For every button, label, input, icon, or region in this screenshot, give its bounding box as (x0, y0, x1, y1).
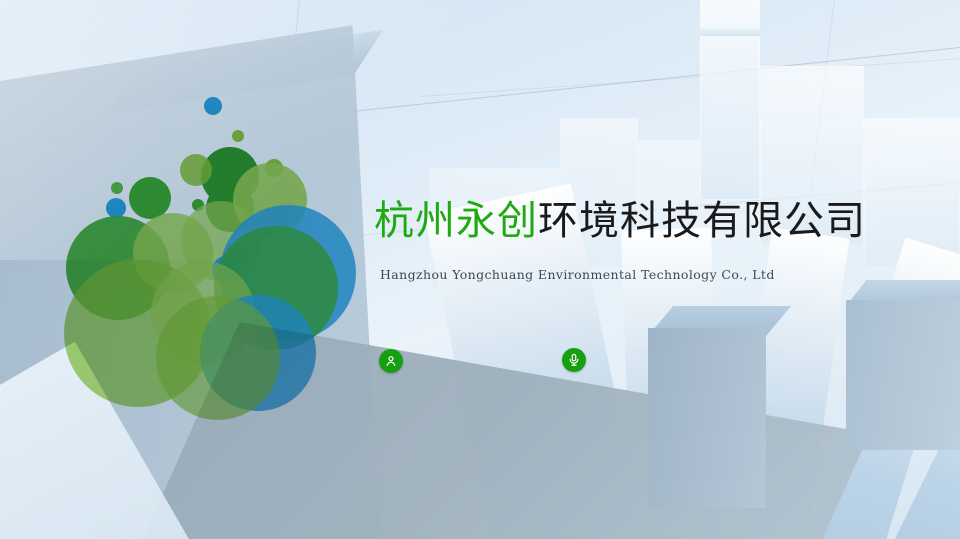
logo-circle (180, 154, 212, 186)
company-logo (78, 88, 348, 408)
title-slide: 杭州永创环境科技有限公司 Hangzhou Yongchuang Environ… (0, 0, 960, 539)
subtitle: Hangzhou Yongchuang Environmental Techno… (380, 267, 914, 282)
user-icon-button[interactable] (379, 349, 403, 373)
title-remainder-part: 环境科技有限公司 (538, 198, 866, 244)
title-text-block: 杭州永创环境科技有限公司 Hangzhou Yongchuang Environ… (374, 198, 914, 282)
logo-circle (232, 130, 244, 142)
page-title: 杭州永创环境科技有限公司 (374, 198, 914, 245)
microphone-icon-button[interactable] (562, 348, 586, 372)
block-front-face (648, 328, 766, 508)
block-front-face (846, 300, 960, 450)
title-brand-part: 杭州永创 (374, 198, 538, 244)
logo-circle (106, 198, 126, 218)
logo-circle (111, 182, 123, 194)
background-block (846, 300, 960, 450)
user-icon (384, 354, 398, 368)
logo-circle (156, 296, 280, 420)
logo-circle (204, 97, 222, 115)
background-block (648, 328, 766, 508)
guide-line (420, 57, 960, 97)
microphone-icon (567, 353, 581, 367)
background-column-cap (700, 28, 760, 36)
